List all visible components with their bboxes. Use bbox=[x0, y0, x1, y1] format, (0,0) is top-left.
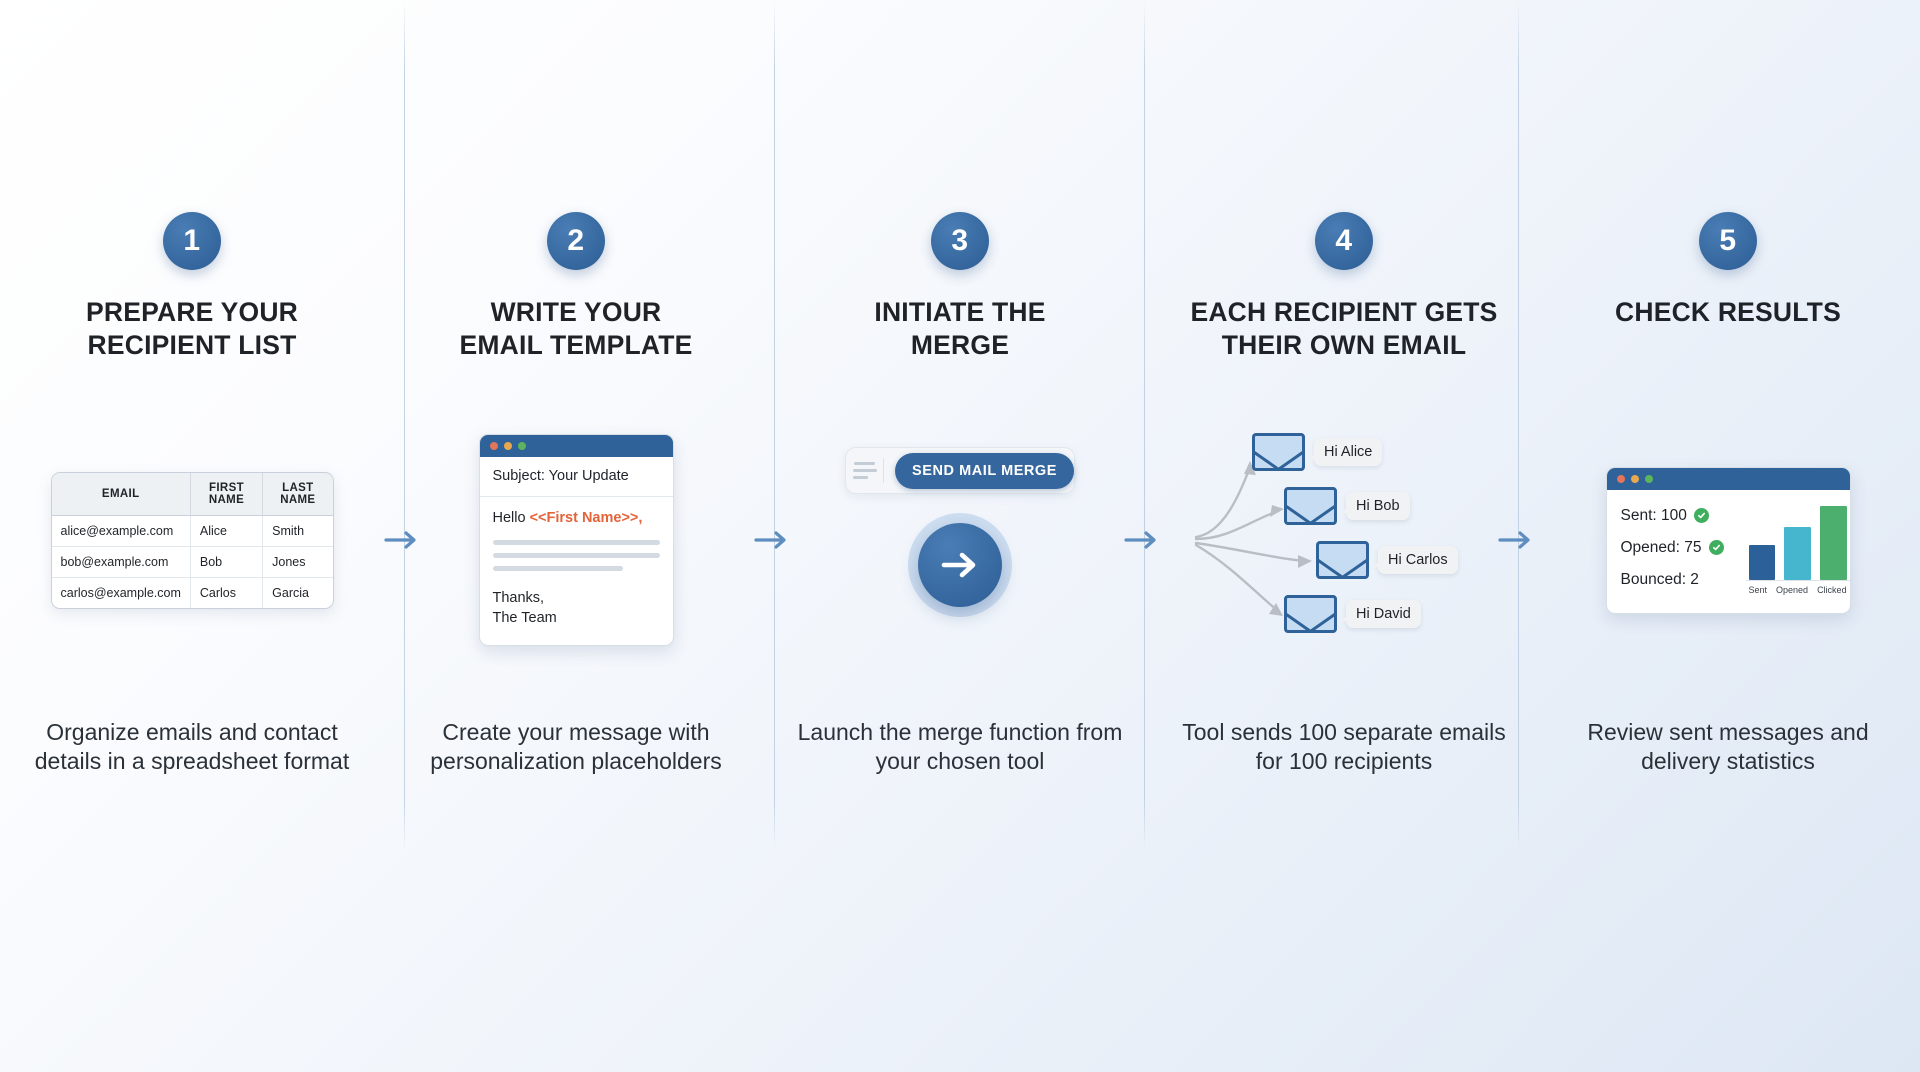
step-2-visual: Subject: Your Update Hello <<First Name>… bbox=[384, 410, 768, 670]
step-description-4: Tool sends 100 separate emails for 100 r… bbox=[1152, 718, 1536, 777]
envelope-icon bbox=[1252, 433, 1305, 471]
step-heading-line1: WRITE YOUR bbox=[491, 297, 662, 327]
cell-email: carlos@example.com bbox=[52, 577, 191, 608]
step-1-visual: EMAIL FIRST NAME LAST NAME alice@example… bbox=[0, 410, 384, 670]
step-5: 5 CHECK RESULTS Sent: 100 bbox=[1536, 0, 1920, 850]
connector-arrow-4 bbox=[1496, 527, 1540, 553]
minimize-icon[interactable] bbox=[1631, 475, 1639, 483]
merge-control: SEND MAIL MERGE bbox=[845, 435, 1075, 645]
envelope-row-3: Hi Carlos bbox=[1316, 541, 1458, 579]
envelope-icon bbox=[1284, 595, 1337, 633]
results-window: Sent: 100 Opened: 75 Bounc bbox=[1606, 467, 1851, 614]
maximize-icon[interactable] bbox=[518, 442, 526, 450]
placeholder-line bbox=[493, 566, 623, 571]
step-heading-line2: RECIPIENT LIST bbox=[88, 330, 297, 360]
greeting-suffix: , bbox=[638, 510, 642, 526]
envelope-label: Hi Carlos bbox=[1378, 546, 1458, 574]
stat-label: Bounced: 2 bbox=[1621, 571, 1699, 589]
minimize-icon[interactable] bbox=[504, 442, 512, 450]
stat-sent: Sent: 100 bbox=[1621, 507, 1724, 525]
launch-merge-button[interactable] bbox=[918, 523, 1002, 607]
stat-opened: Opened: 75 bbox=[1621, 539, 1724, 557]
connector-arrow-3 bbox=[1122, 527, 1166, 553]
delivery-bar-chart: Sent Opened Clicked bbox=[1746, 503, 1851, 603]
step-heading-line1: PREPARE YOUR bbox=[86, 297, 298, 327]
merge-token: <<First Name>> bbox=[530, 510, 639, 526]
step-heading-line2: THEIR OWN EMAIL bbox=[1222, 330, 1466, 360]
envelope-icon bbox=[1284, 487, 1337, 525]
x-label-opened: Opened bbox=[1776, 585, 1808, 595]
bar-opened bbox=[1784, 527, 1811, 579]
column-header-first-name: FIRST NAME bbox=[190, 473, 262, 516]
step-heading-3: INITIATE THE MERGE bbox=[768, 296, 1152, 362]
toolbar-separator bbox=[883, 458, 884, 483]
table-header-row: EMAIL FIRST NAME LAST NAME bbox=[52, 473, 333, 516]
step-heading-2: WRITE YOUR EMAIL TEMPLATE bbox=[384, 296, 768, 362]
stat-bounced: Bounced: 2 bbox=[1621, 571, 1724, 589]
bar-clicked bbox=[1820, 506, 1847, 579]
process-steps: 1 PREPARE YOUR RECIPIENT LIST EMAIL FIRS… bbox=[0, 0, 1920, 850]
step-number-badge-3: 3 bbox=[931, 212, 989, 270]
step-number-badge-2: 2 bbox=[547, 212, 605, 270]
email-greeting: Hello <<First Name>>, bbox=[493, 510, 660, 526]
arrow-right-icon bbox=[938, 548, 982, 582]
cell-last-name: Garcia bbox=[263, 577, 333, 608]
bar-sent bbox=[1749, 545, 1776, 580]
table-row: alice@example.com Alice Smith bbox=[52, 515, 333, 546]
step-description-2: Create your message with personalization… bbox=[384, 718, 768, 777]
step-number-badge-1: 1 bbox=[163, 212, 221, 270]
step-2: 2 WRITE YOUR EMAIL TEMPLATE Subject: You… bbox=[384, 0, 768, 850]
step-4: 4 EACH RECIPIENT GETS THEIR OWN EMAIL bbox=[1152, 0, 1536, 850]
placeholder-line bbox=[493, 540, 660, 545]
x-label-sent: Sent bbox=[1749, 585, 1768, 595]
check-icon bbox=[1694, 508, 1709, 523]
launch-glow bbox=[908, 513, 1012, 617]
step-heading-line1: CHECK RESULTS bbox=[1615, 297, 1841, 327]
cell-email: bob@example.com bbox=[52, 546, 191, 577]
step-5-visual: Sent: 100 Opened: 75 Bounc bbox=[1536, 410, 1920, 670]
maximize-icon[interactable] bbox=[1645, 475, 1653, 483]
step-heading-line2: EMAIL TEMPLATE bbox=[460, 330, 693, 360]
envelope-icon bbox=[1316, 541, 1369, 579]
cell-last-name: Smith bbox=[263, 515, 333, 546]
table-row: bob@example.com Bob Jones bbox=[52, 546, 333, 577]
step-number-badge-5: 5 bbox=[1699, 212, 1757, 270]
cell-first-name: Carlos bbox=[190, 577, 262, 608]
signoff-line2: The Team bbox=[493, 610, 557, 626]
column-header-email: EMAIL bbox=[52, 473, 191, 516]
envelope-label: Hi David bbox=[1346, 600, 1421, 628]
close-icon[interactable] bbox=[490, 442, 498, 450]
merge-toolbar: SEND MAIL MERGE bbox=[845, 447, 1075, 494]
step-heading-1: PREPARE YOUR RECIPIENT LIST bbox=[0, 296, 384, 362]
step-description-5: Review sent messages and delivery statis… bbox=[1536, 718, 1920, 777]
signoff-line1: Thanks, bbox=[493, 590, 545, 606]
connector-arrow-1 bbox=[382, 527, 426, 553]
email-template-window: Subject: Your Update Hello <<First Name>… bbox=[479, 434, 674, 645]
envelope-label: Hi Bob bbox=[1346, 492, 1410, 520]
step-4-visual: Hi Alice Hi Bob Hi Carlos Hi David bbox=[1152, 410, 1536, 670]
cell-last-name: Jones bbox=[263, 546, 333, 577]
step-3-visual: SEND MAIL MERGE bbox=[768, 410, 1152, 670]
stat-label: Sent: 100 bbox=[1621, 507, 1687, 525]
step-description-1: Organize emails and contact details in a… bbox=[0, 718, 384, 777]
menu-icon[interactable] bbox=[846, 462, 883, 479]
cell-email: alice@example.com bbox=[52, 515, 191, 546]
envelope-row-1: Hi Alice bbox=[1252, 433, 1382, 471]
fanout-diagram: Hi Alice Hi Bob Hi Carlos Hi David bbox=[1194, 425, 1494, 655]
table-row: carlos@example.com Carlos Garcia bbox=[52, 577, 333, 608]
envelope-row-2: Hi Bob bbox=[1284, 487, 1410, 525]
envelope-row-4: Hi David bbox=[1284, 595, 1421, 633]
step-heading-4: EACH RECIPIENT GETS THEIR OWN EMAIL bbox=[1152, 296, 1536, 362]
delivery-stats: Sent: 100 Opened: 75 Bounc bbox=[1607, 503, 1724, 603]
column-header-last-name: LAST NAME bbox=[263, 473, 333, 516]
connector-arrow-2 bbox=[752, 527, 796, 553]
email-subject: Subject: Your Update bbox=[480, 457, 673, 497]
chart-bars bbox=[1746, 503, 1850, 581]
recipient-spreadsheet: EMAIL FIRST NAME LAST NAME alice@example… bbox=[51, 472, 334, 609]
envelope-label: Hi Alice bbox=[1314, 438, 1382, 466]
send-mail-merge-button[interactable]: SEND MAIL MERGE bbox=[895, 453, 1074, 489]
window-titlebar bbox=[480, 435, 673, 457]
step-heading-line2: MERGE bbox=[911, 330, 1009, 360]
email-body: Hello <<First Name>>, Thanks, The Team bbox=[480, 497, 673, 644]
results-body: Sent: 100 Opened: 75 Bounc bbox=[1607, 490, 1850, 613]
chart-x-labels: Sent Opened Clicked bbox=[1746, 581, 1850, 595]
x-label-clicked: Clicked bbox=[1817, 585, 1847, 595]
cell-first-name: Bob bbox=[190, 546, 262, 577]
window-titlebar bbox=[1607, 468, 1850, 490]
step-number-badge-4: 4 bbox=[1315, 212, 1373, 270]
placeholder-line bbox=[493, 553, 660, 558]
step-3: 3 INITIATE THE MERGE SEND MAIL MERGE bbox=[768, 0, 1152, 850]
step-description-3: Launch the merge function from your chos… bbox=[768, 718, 1152, 777]
greeting-prefix: Hello bbox=[493, 510, 530, 526]
cell-first-name: Alice bbox=[190, 515, 262, 546]
step-1: 1 PREPARE YOUR RECIPIENT LIST EMAIL FIRS… bbox=[0, 0, 384, 850]
stat-label: Opened: 75 bbox=[1621, 539, 1702, 557]
step-heading-line1: INITIATE THE bbox=[874, 297, 1045, 327]
step-heading-5: CHECK RESULTS bbox=[1536, 296, 1920, 329]
check-icon bbox=[1709, 540, 1724, 555]
close-icon[interactable] bbox=[1617, 475, 1625, 483]
step-heading-line1: EACH RECIPIENT GETS bbox=[1190, 297, 1497, 327]
email-signoff: Thanks, The Team bbox=[493, 589, 660, 628]
